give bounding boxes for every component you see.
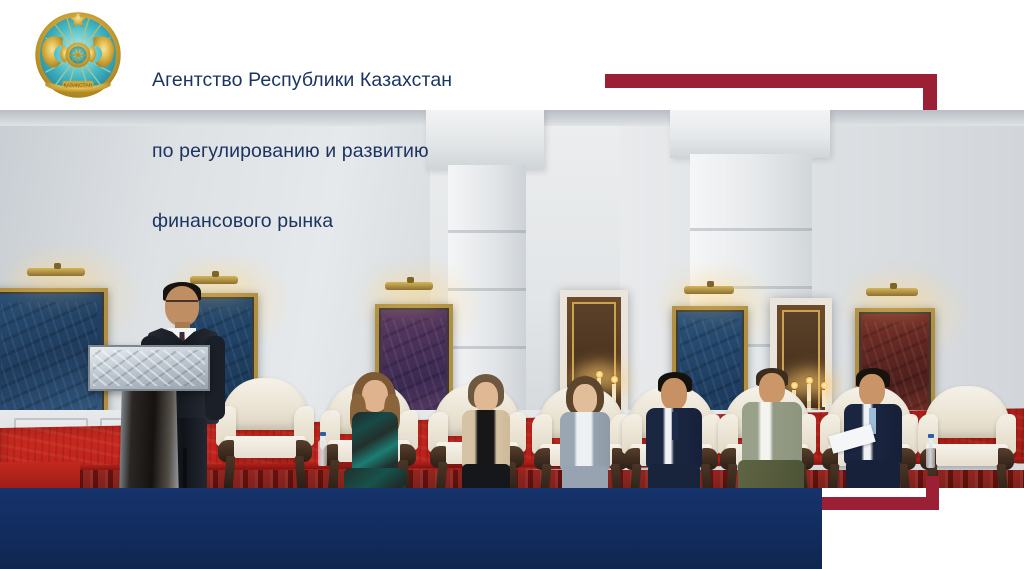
footer-accent-horizontal-bar [822, 497, 939, 510]
presentation-slide: ҚАЗАҚСТАН Агентство Республики Казахстан… [0, 0, 1024, 569]
panelist-man-reading-papers [834, 368, 916, 488]
wall-block-seam [448, 288, 526, 291]
picture-light [385, 282, 433, 290]
header-accent-vertical-bar [923, 74, 937, 110]
panelist-woman-floral-dress [334, 372, 414, 488]
footer-accent-vertical-bar [926, 476, 939, 510]
panelist-woman-beige-blazer [448, 374, 524, 488]
water-bottle [926, 442, 935, 468]
panelist-man-navy-suit [636, 372, 714, 488]
picture-light [27, 268, 85, 276]
caption-band: Об участии в Форуме, посвященному устойч… [0, 488, 822, 569]
wall-block-seam [690, 228, 812, 231]
org-title-line-3: финансового рынка [152, 210, 452, 234]
org-title-line-2: по регулированию и развитию [152, 140, 452, 164]
header-red-accent-bracket [605, 74, 937, 110]
picture-light [866, 288, 918, 296]
picture-light [684, 286, 734, 294]
wall-block-seam [448, 346, 526, 349]
kazakhstan-state-emblem-icon: ҚАЗАҚСТАН [30, 7, 126, 103]
floor-carpet [0, 462, 80, 488]
wall-block-seam [448, 230, 526, 233]
footer-red-accent-bracket [822, 488, 1024, 569]
header-accent-horizontal-bar [605, 74, 937, 88]
speaker-podium [88, 345, 210, 488]
organization-title: Агентство Республики Казахстан по регули… [152, 22, 452, 281]
svg-text:ҚАЗАҚСТАН: ҚАЗАҚСТАН [64, 83, 93, 89]
pilaster-capital-right [670, 110, 830, 158]
caption-title: Об участии в Форуме, посвященному устойч… [14, 494, 804, 569]
panelist-woman-grey-suit [548, 376, 622, 488]
org-title-line-1: Агентство Республики Казахстан [152, 69, 452, 93]
water-bottle [318, 440, 327, 466]
caption-line-1: Об участии в Форуме, [14, 564, 804, 569]
panelist-man-sage-jacket [732, 368, 818, 488]
